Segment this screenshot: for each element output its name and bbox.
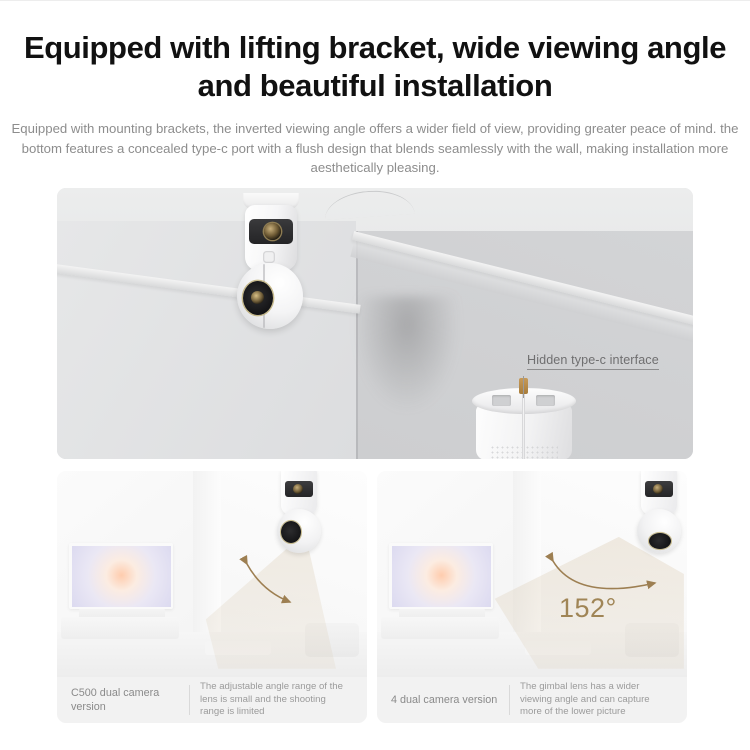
page-subcopy: Equipped with mounting brackets, the inv… — [10, 119, 740, 178]
typec-detail-unit — [472, 388, 576, 459]
caption-divider — [509, 685, 510, 715]
caption-bar-left: C500 dual camera version The adjustable … — [57, 677, 367, 723]
hidden-typec-callout: Hidden type-c interface — [527, 353, 659, 370]
room-scene-wide: 152° — [377, 471, 687, 677]
callout-leader-line — [523, 376, 524, 398]
mini-camera-narrow — [275, 471, 323, 563]
hero-image-panel: Hidden type-c interface — [57, 188, 693, 459]
mini-camera-upper-lens — [645, 481, 673, 497]
camera-indicator-button — [263, 251, 275, 263]
page-headline: Equipped with lifting bracket, wide view… — [20, 29, 730, 105]
camera-cast-shadow — [356, 296, 458, 410]
room-scene-narrow — [57, 471, 367, 677]
camera-gimbal-ball — [237, 263, 303, 329]
camera-upper-lens — [249, 219, 293, 244]
ceiling-camera-device — [235, 193, 307, 339]
camera-lower-lens — [243, 281, 273, 315]
caption-description-right: The gimbal lens has a wider viewing angl… — [520, 681, 673, 718]
bracket-slot-left — [492, 395, 511, 406]
mini-camera-upper-lens — [285, 481, 313, 497]
caption-title-right: 4 dual camera version — [391, 693, 507, 707]
mini-camera-gimbal — [277, 509, 321, 553]
product-feature-page: Equipped with lifting bracket, wide view… — [0, 0, 750, 750]
mini-camera-gimbal — [637, 509, 681, 553]
caption-divider — [189, 685, 190, 715]
caption-description-left: The adjustable angle range of the lens i… — [200, 681, 353, 718]
comparison-panel-left: C500 dual camera version The adjustable … — [57, 471, 367, 723]
caption-bar-right: 4 dual camera version The gimbal lens ha… — [377, 677, 687, 723]
wall-left-surface — [57, 221, 356, 459]
bracket-slot-right — [536, 395, 555, 406]
mini-camera-wide — [635, 471, 683, 563]
comparison-panel-right: 152° 4 dual camera version The gimbal le… — [377, 471, 687, 723]
caption-title-left: C500 dual camera version — [71, 686, 187, 714]
mini-camera-lower-lens — [281, 521, 301, 543]
viewing-angle-label: 152° — [559, 593, 617, 624]
mini-camera-lower-lens — [649, 533, 671, 549]
